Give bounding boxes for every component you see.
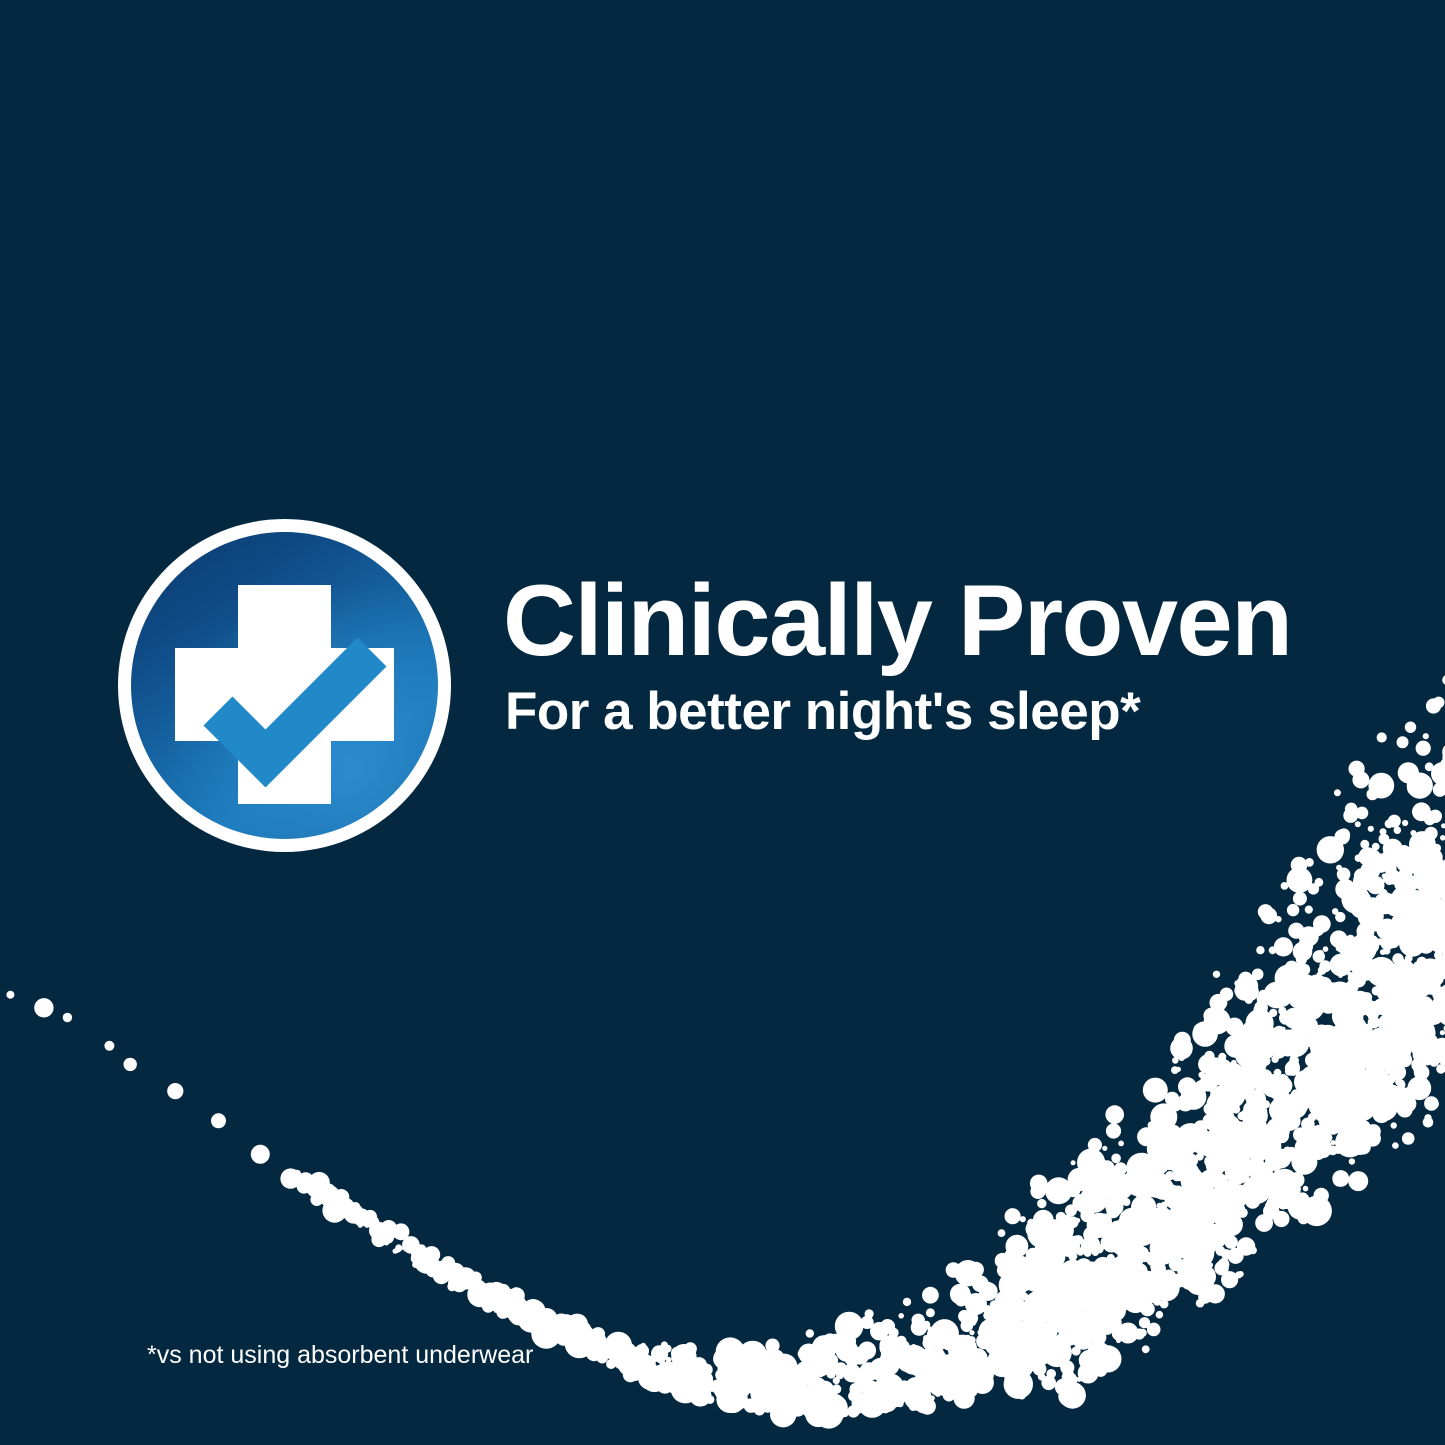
wave-dot [1177, 1227, 1193, 1243]
wave-dot [881, 1345, 902, 1366]
wave-dot [531, 1319, 561, 1349]
wave-dot [1147, 1329, 1152, 1334]
wave-dot [1370, 1045, 1383, 1058]
wave-dot [1223, 1120, 1238, 1135]
wave-dot [322, 1184, 336, 1198]
wave-dot [965, 1293, 987, 1315]
wave-dot [1066, 1182, 1081, 1197]
wave-dot [1348, 974, 1356, 982]
wave-dot [652, 1346, 663, 1357]
wave-dot [879, 1340, 896, 1357]
wave-dot [1296, 954, 1307, 965]
wave-dot [1176, 1172, 1186, 1182]
wave-dot [1244, 1143, 1256, 1155]
wave-dot [1237, 1080, 1243, 1086]
wave-dot [1429, 1056, 1439, 1066]
wave-dot [673, 1367, 691, 1385]
wave-dot [995, 1290, 1018, 1313]
wave-dot [1042, 1305, 1051, 1314]
wave-dot [1175, 1144, 1190, 1159]
wave-dot [1177, 1191, 1184, 1198]
wave-dot [606, 1344, 615, 1353]
wave-dot [1277, 1197, 1290, 1210]
wave-dot [1381, 1031, 1405, 1055]
wave-dot [1338, 996, 1353, 1011]
wave-dot [1111, 1154, 1121, 1164]
wave-dot [1369, 1055, 1387, 1073]
wave-dot [1057, 1280, 1063, 1286]
wave-dot [1063, 1372, 1078, 1387]
wave-dot [1187, 1207, 1204, 1224]
wave-dot [1374, 883, 1384, 893]
wave-dot [1303, 1018, 1318, 1033]
wave-dot [1053, 1234, 1061, 1242]
wave-dot [833, 1396, 840, 1403]
wave-dot [1311, 1004, 1319, 1012]
wave-dot [1423, 977, 1441, 995]
wave-dot [988, 1305, 998, 1315]
wave-dot [969, 1368, 984, 1383]
wave-dot [371, 1222, 384, 1235]
wave-dot [958, 1368, 973, 1383]
wave-dot [1063, 1279, 1073, 1289]
wave-dot [770, 1401, 796, 1427]
wave-dot [1422, 959, 1435, 972]
wave-dot [1068, 1252, 1077, 1261]
wave-dot [1349, 1134, 1370, 1155]
wave-dot [1316, 972, 1321, 977]
wave-dot [1007, 1251, 1021, 1265]
wave-dot [1238, 1161, 1245, 1168]
wave-dot [991, 1342, 996, 1347]
wave-dot [1436, 1064, 1445, 1074]
wave-dot [927, 1376, 937, 1386]
wave-dot [719, 1363, 735, 1379]
wave-dot [1387, 1042, 1402, 1057]
wave-dot [1158, 1250, 1168, 1260]
wave-dot [1199, 1243, 1205, 1249]
wave-dot [1316, 1135, 1326, 1145]
wave-dot [1421, 999, 1431, 1009]
wave-dot [880, 1319, 895, 1334]
wave-dot [1074, 1288, 1087, 1301]
wave-dot [805, 1403, 828, 1426]
wave-dot [334, 1197, 355, 1218]
wave-dot [1150, 1233, 1180, 1263]
wave-dot [621, 1343, 636, 1358]
wave-dot [877, 1366, 885, 1374]
wave-dot [632, 1359, 648, 1375]
wave-dot [876, 1373, 904, 1401]
wave-dot [1083, 1309, 1096, 1322]
wave-dot [1434, 900, 1440, 906]
wave-dot [1281, 1043, 1295, 1057]
wave-dot [879, 1335, 900, 1356]
wave-dot [1295, 1046, 1300, 1051]
wave-dot [1306, 1033, 1322, 1049]
wave-dot [1312, 1069, 1328, 1085]
wave-dot [850, 1383, 859, 1392]
wave-dot [1210, 1231, 1222, 1243]
wave-dot [885, 1373, 896, 1384]
wave-dot [1278, 1100, 1296, 1118]
wave-dot [739, 1358, 746, 1365]
wave-dot [1410, 830, 1416, 836]
wave-dot [1084, 1236, 1100, 1252]
wave-dot [1288, 923, 1304, 939]
wave-dot [1257, 1134, 1272, 1149]
wave-dot [1028, 1322, 1042, 1336]
wave-dot [1224, 1212, 1238, 1226]
wave-dot [1118, 1232, 1128, 1242]
wave-dot [1010, 1302, 1028, 1320]
wave-dot [1303, 950, 1312, 959]
wave-dot [1217, 1158, 1225, 1166]
wave-dot [1196, 1179, 1213, 1196]
wave-dot [555, 1333, 564, 1342]
wave-dot [483, 1290, 504, 1311]
wave-dot [358, 1213, 369, 1224]
wave-dot [927, 1346, 937, 1356]
wave-dot [1210, 1186, 1233, 1209]
wave-dot [1211, 1079, 1219, 1087]
wave-dot [948, 1362, 961, 1375]
wave-dot [1305, 906, 1313, 914]
wave-dot [606, 1351, 614, 1359]
wave-dot [1165, 1128, 1182, 1145]
wave-dot [1358, 903, 1384, 929]
wave-dot [1171, 1185, 1177, 1191]
wave-dot [482, 1286, 498, 1302]
wave-dot [1357, 1095, 1363, 1101]
wave-dot [1240, 1243, 1250, 1253]
wave-dot [1166, 1162, 1174, 1170]
wave-dot [1062, 1285, 1081, 1304]
wave-dot [1403, 1021, 1420, 1038]
wave-dot [1153, 1158, 1169, 1174]
wave-dot [1224, 1034, 1248, 1058]
wave-dot [482, 1283, 498, 1299]
wave-dot [798, 1344, 819, 1365]
wave-dot [1280, 1104, 1289, 1113]
wave-dot [1035, 1347, 1045, 1357]
wave-dot [907, 1351, 932, 1376]
wave-dot [1134, 1254, 1140, 1260]
wave-dot [1294, 1070, 1318, 1094]
wave-dot [1290, 985, 1300, 995]
wave-dot [1266, 1182, 1286, 1202]
wave-dot [1396, 847, 1423, 874]
wave-dot [1163, 1185, 1182, 1204]
wave-dot [1315, 1130, 1325, 1140]
wave-dot [1431, 1100, 1439, 1108]
wave-dot [732, 1362, 749, 1379]
wave-dot [790, 1379, 797, 1386]
wave-dot [1245, 996, 1253, 1004]
wave-dot [1232, 1170, 1240, 1178]
wave-dot [1102, 1282, 1110, 1290]
wave-dot [1285, 1068, 1293, 1076]
wave-dot [1147, 1124, 1164, 1141]
wave-dot [1340, 1063, 1362, 1085]
wave-dot [1035, 1351, 1041, 1357]
wave-dot [1426, 698, 1441, 713]
wave-dot [1118, 1287, 1123, 1292]
wave-dot [1387, 1003, 1401, 1017]
wave-dot [446, 1263, 458, 1275]
wave-dot [1030, 1184, 1045, 1199]
wave-dot [1118, 1223, 1128, 1233]
wave-dot [1383, 947, 1390, 954]
wave-dot [568, 1342, 578, 1352]
wave-dot [1369, 1033, 1387, 1051]
wave-dot [1427, 849, 1443, 865]
wave-dot [297, 1179, 312, 1194]
wave-dot [1093, 1257, 1113, 1277]
wave-dot [1213, 1111, 1229, 1127]
wave-dot [1319, 846, 1329, 856]
wave-dot [1275, 965, 1302, 992]
wave-dot [1094, 1297, 1100, 1303]
wave-dot [1341, 1065, 1357, 1081]
wave-dot [961, 1320, 974, 1333]
wave-dot [1170, 1037, 1193, 1060]
wave-dot [1345, 1118, 1360, 1133]
wave-dot [1098, 1222, 1113, 1237]
wave-dot [1323, 946, 1329, 952]
wave-dot [1125, 1238, 1134, 1247]
wave-dot [1085, 1297, 1103, 1315]
wave-dot [1414, 988, 1420, 994]
wave-dot [1401, 1002, 1429, 1030]
wave-dot [968, 1387, 977, 1396]
wave-dot [1392, 1026, 1408, 1042]
wave-dot [381, 1220, 397, 1236]
wave-dot [1067, 1329, 1081, 1343]
wave-dot [773, 1378, 788, 1393]
wave-dot [856, 1374, 868, 1386]
wave-dot [1257, 1083, 1267, 1093]
wave-dot [1064, 1315, 1075, 1326]
wave-dot [1050, 1314, 1068, 1332]
wave-dot [1402, 1132, 1415, 1145]
wave-dot [508, 1287, 525, 1304]
wave-dot [1436, 972, 1445, 981]
wave-dot [452, 1277, 467, 1292]
wave-dot [1192, 1210, 1207, 1225]
wave-dot [1338, 1123, 1353, 1138]
wave-dot [1295, 963, 1304, 972]
wave-dot [1167, 1146, 1177, 1156]
wave-dot [779, 1372, 788, 1381]
wave-dot [1149, 1187, 1154, 1192]
wave-dot [1410, 912, 1439, 941]
wave-dot [754, 1372, 762, 1380]
wave-dot [834, 1332, 851, 1349]
wave-dot [1325, 982, 1354, 1011]
wave-dot [1335, 879, 1355, 899]
wave-dot [1252, 1072, 1271, 1091]
wave-dot [1203, 1031, 1212, 1040]
wave-dot [626, 1365, 642, 1381]
wave-dot [1330, 1049, 1340, 1059]
wave-dot [1366, 1124, 1381, 1139]
wave-dot [1313, 915, 1331, 933]
wave-dot [671, 1344, 696, 1369]
wave-dot [1178, 1231, 1196, 1249]
wave-dot [1209, 1085, 1218, 1094]
wave-dot [1250, 1024, 1256, 1030]
wave-dot [1274, 1129, 1289, 1144]
wave-dot [1359, 1030, 1387, 1058]
wave-dot [1438, 1005, 1445, 1026]
wave-dot [991, 1352, 1015, 1376]
wave-dot [1434, 951, 1442, 959]
wave-dot [1124, 1167, 1154, 1197]
wave-dot [1141, 1192, 1149, 1200]
wave-dot [485, 1292, 502, 1309]
wave-dot [1214, 1236, 1225, 1247]
wave-dot [540, 1315, 558, 1333]
wave-dot [1282, 1075, 1289, 1082]
wave-dot [1430, 1048, 1439, 1057]
wave-dot [968, 1307, 978, 1317]
wave-dot [1280, 1106, 1288, 1114]
wave-dot [1249, 1065, 1255, 1071]
wave-dot [1094, 1302, 1101, 1309]
wave-dot [1138, 1214, 1155, 1231]
wave-dot [983, 1305, 992, 1314]
wave-dot [1131, 1243, 1141, 1253]
wave-dot [1089, 1307, 1114, 1332]
wave-dot [893, 1375, 898, 1380]
wave-dot [779, 1401, 793, 1415]
wave-dot [1235, 1156, 1244, 1165]
wave-dot [1222, 1205, 1238, 1221]
wave-dot [1378, 1032, 1407, 1061]
wave-dot [1357, 930, 1369, 942]
wave-dot [1154, 1207, 1166, 1219]
wave-dot [1213, 1114, 1241, 1142]
wave-dot [1405, 722, 1416, 733]
wave-dot [1318, 1109, 1341, 1132]
wave-dot [1046, 1266, 1052, 1272]
wave-dot [956, 1373, 969, 1386]
wave-dot [868, 1386, 874, 1392]
wave-dot [1278, 1007, 1286, 1015]
wave-dot [1352, 973, 1366, 987]
wave-dot [1440, 993, 1445, 1010]
wave-dot [1057, 1320, 1073, 1336]
wave-dot [1010, 1315, 1022, 1327]
wave-dot [1155, 1138, 1172, 1155]
wave-dot [1054, 1273, 1080, 1299]
wave-dot [424, 1255, 434, 1265]
wave-dot [771, 1401, 778, 1408]
wave-dot [756, 1400, 765, 1409]
wave-dot [779, 1395, 785, 1401]
wave-dot [1348, 957, 1363, 972]
wave-dot [816, 1408, 826, 1418]
wave-dot [1231, 1103, 1239, 1111]
wave-dot [1328, 1146, 1338, 1156]
wave-dot [1089, 1315, 1095, 1321]
wave-dot [1154, 1125, 1182, 1153]
wave-dot [1188, 1155, 1199, 1166]
wave-dot [333, 1189, 349, 1205]
wave-dot [1218, 1227, 1232, 1241]
wave-dot [1072, 1328, 1094, 1350]
wave-dot [1010, 1290, 1021, 1301]
wave-dot [935, 1359, 950, 1374]
wave-dot [1278, 1087, 1285, 1094]
wave-dot [1133, 1278, 1140, 1285]
wave-dot [584, 1332, 598, 1346]
wave-dot [650, 1365, 666, 1381]
wave-dot [1301, 1097, 1312, 1108]
wave-dot [716, 1337, 745, 1366]
wave-dot [745, 1376, 761, 1392]
wave-dot [1440, 1039, 1445, 1045]
wave-dot [1370, 850, 1380, 860]
wave-dot [1217, 1062, 1246, 1091]
wave-dot [1288, 1093, 1299, 1104]
wave-dot [1004, 1252, 1013, 1261]
wave-dot [1346, 980, 1358, 992]
wave-dot [1232, 1105, 1241, 1114]
wave-dot [1105, 1180, 1124, 1199]
wave-dot [1059, 1329, 1069, 1339]
wave-dot [1181, 1084, 1207, 1110]
wave-dot [1263, 1203, 1279, 1219]
wave-dot [1384, 976, 1389, 981]
wave-dot [1375, 963, 1383, 971]
wave-dot [1430, 896, 1439, 905]
wave-dot [1375, 901, 1380, 906]
wave-dot [787, 1396, 807, 1416]
wave-dot [1035, 1314, 1045, 1324]
wave-dot [1076, 1193, 1098, 1215]
wave-dot [1139, 1329, 1147, 1337]
wave-dot [495, 1294, 509, 1308]
wave-dot [660, 1376, 670, 1386]
wave-dot [1355, 821, 1361, 827]
wave-dot [921, 1392, 929, 1400]
wave-dot [1382, 997, 1409, 1024]
wave-dot [1176, 1067, 1181, 1072]
wave-dot [486, 1282, 508, 1304]
wave-dot [1392, 1142, 1399, 1149]
wave-dot [1094, 1345, 1121, 1372]
wave-dot [768, 1360, 781, 1373]
wave-dot [63, 1013, 72, 1022]
wave-dot [1146, 1251, 1161, 1266]
wave-dot [891, 1339, 908, 1356]
wave-dot [1293, 942, 1313, 962]
wave-dot [911, 1344, 917, 1350]
wave-dot [1059, 1382, 1086, 1409]
wave-dot [1134, 1329, 1145, 1340]
wave-dot [1431, 762, 1445, 785]
wave-dot [1347, 1093, 1357, 1103]
wave-dot [1273, 1094, 1288, 1109]
wave-dot [1316, 978, 1329, 991]
wave-dot [1388, 1077, 1395, 1084]
wave-dot [1362, 1024, 1373, 1035]
wave-dot [923, 1336, 937, 1350]
badge-symbols [118, 519, 451, 852]
wave-dot [1020, 1257, 1036, 1273]
